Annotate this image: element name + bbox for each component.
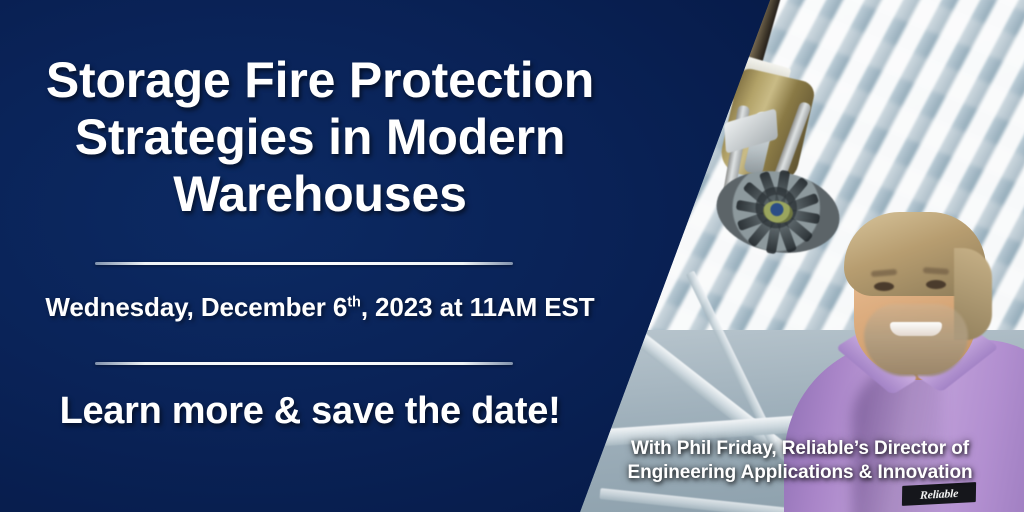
speaker-caption: With Phil Friday, Reliable’s Director of… <box>590 437 1010 485</box>
divider-bottom <box>95 362 513 365</box>
page-title: Storage Fire Protection Strategies in Mo… <box>20 52 620 223</box>
reliable-logo-text: Reliable <box>920 485 958 502</box>
mouth <box>890 322 942 336</box>
eye <box>874 282 894 291</box>
event-date-prefix: Wednesday, December 6 <box>45 292 347 322</box>
cta-text[interactable]: Learn more & save the date! <box>20 390 600 433</box>
event-date-suffix: , 2023 at 11AM EST <box>361 292 595 322</box>
webinar-promo-banner: Reliable Storage Fire Protection Strateg… <box>0 0 1024 512</box>
divider-top <box>95 262 513 265</box>
date-ordinal-suffix: th <box>347 294 361 310</box>
beard <box>864 304 968 376</box>
reliable-logo-patch: Reliable <box>902 482 976 506</box>
eye <box>926 280 946 289</box>
speaker-caption-line-1: With Phil Friday, Reliable’s Director of <box>590 437 1010 461</box>
speaker-caption-line-2: Engineering Applications & Innovation <box>590 461 1010 485</box>
banner-content: Storage Fire Protection Strategies in Mo… <box>0 0 640 512</box>
event-datetime: Wednesday, December 6th, 2023 at 11AM ES… <box>20 292 620 323</box>
